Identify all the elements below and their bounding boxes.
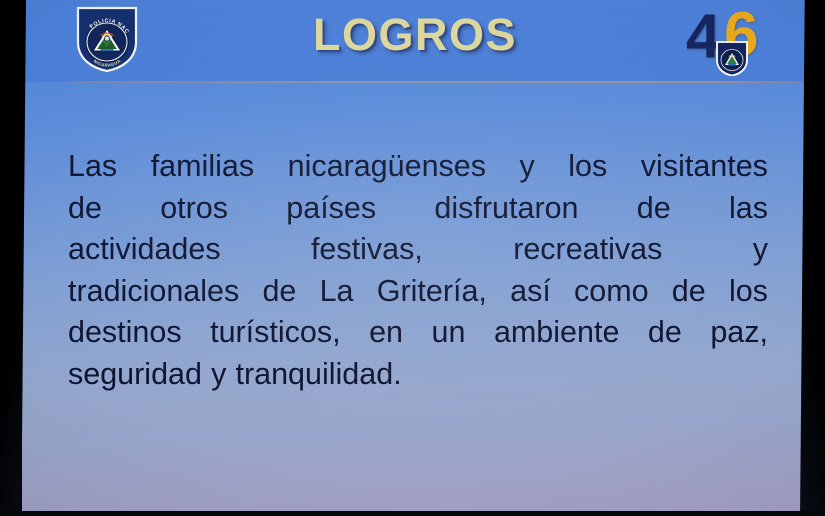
word: un (432, 312, 466, 354)
policia-nacional-shield-icon: POLICIA NACIONAL NICARAGUA (76, 6, 138, 72)
body-line: de otros países disfrutaron de las (68, 188, 768, 230)
policia-nacional-badge-mini-icon (715, 40, 749, 76)
word: así (510, 271, 551, 313)
word: actividades (68, 229, 221, 271)
word: destinos (68, 312, 182, 354)
word: familias (151, 146, 254, 188)
word: de (672, 271, 706, 313)
word: las (729, 188, 768, 230)
slide-body-text: Las familias nicaragüenses y los visitan… (68, 146, 768, 395)
word: de (262, 271, 296, 313)
word: de (648, 312, 682, 354)
header-divider-rule (58, 81, 806, 83)
word: países (286, 188, 376, 230)
screen-bezel-bottom (0, 511, 825, 516)
word: disfrutaron (434, 188, 578, 230)
word: y (520, 146, 535, 188)
word: y (211, 354, 226, 396)
word: en (369, 312, 403, 354)
word: como (574, 271, 649, 313)
word: recreativas (513, 229, 662, 271)
word: festivas, (311, 229, 423, 271)
body-line: tradicionales de La Gritería, así como d… (68, 271, 768, 313)
word: seguridad (68, 354, 202, 396)
word: turísticos, (210, 312, 341, 354)
word: otros (160, 188, 228, 230)
word: tranquilidad. (236, 354, 402, 396)
word: nicaragüenses (288, 146, 486, 188)
word: Las (68, 146, 117, 188)
body-line: destinos turísticos, en un ambiente de p… (68, 312, 768, 354)
projector-screen-frame: POLICIA NACIONAL NICARAGUA 4 6 (0, 0, 825, 516)
presentation-slide: POLICIA NACIONAL NICARAGUA 4 6 (22, 0, 808, 512)
word: de (637, 188, 671, 230)
word: paz, (710, 312, 768, 354)
word: y (753, 229, 768, 271)
body-line: Las familias nicaragüenses y los visitan… (68, 146, 768, 188)
anniversary-46-logo: 4 6 (684, 2, 784, 78)
word: tradicionales (68, 271, 239, 313)
word: los (729, 271, 768, 313)
word: ambiente (494, 312, 619, 354)
word: Gritería, (377, 271, 487, 313)
body-line: seguridad y tranquilidad. (68, 354, 768, 396)
body-line: actividades festivas, recreativas y (68, 229, 768, 271)
word: los (568, 146, 607, 188)
word: La (320, 271, 354, 313)
word: de (68, 188, 102, 230)
word: visitantes (641, 146, 768, 188)
